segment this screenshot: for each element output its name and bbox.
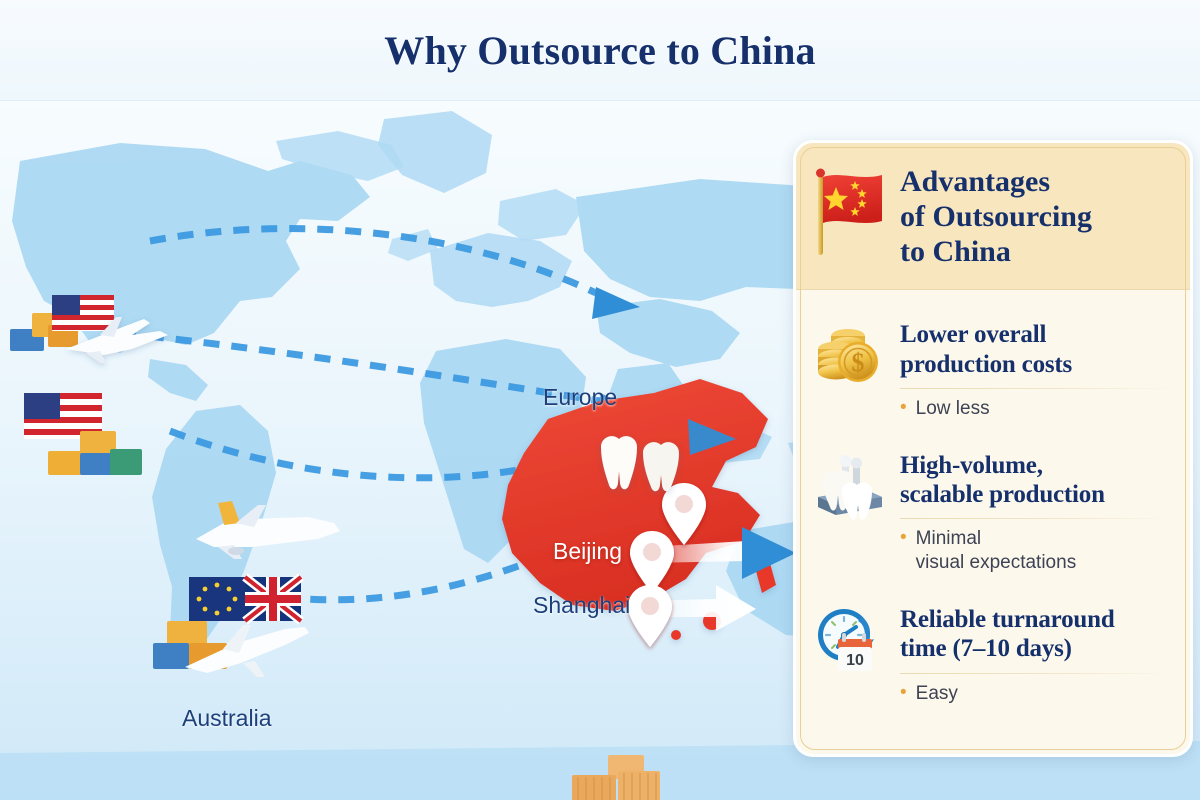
shipping-crates-cluster [566, 751, 706, 800]
advantages-panel: Advantages of Outsourcing to China [793, 140, 1193, 757]
advantage-sub-line-1: Minimal [916, 528, 981, 549]
advantage-item-turnaround-time: 10 Reliable turnaround time (7–10 days) … [812, 589, 1172, 719]
airplane-mid-cluster [188, 493, 353, 563]
advantage-headline-line-2: time (7–10 days) [900, 634, 1172, 663]
gold-coins-dollar-icon: $ [812, 316, 886, 390]
dental-teeth-map-cluster [595, 431, 690, 501]
advantage-headline: Lower overall production costs [900, 320, 1172, 379]
panel-header: Advantages of Outsourcing to China [796, 143, 1190, 290]
map-label-europe: Europe [543, 384, 617, 411]
map-label-shanghai: Shanghai [533, 592, 630, 619]
advantage-list: $ Lower overall production costs • Low l… [796, 290, 1190, 729]
advantage-headline: High-volume, scalable production [900, 451, 1172, 510]
svg-text:$: $ [852, 348, 865, 377]
advantage-divider [900, 518, 1172, 519]
map-label-beijing: Beijing [553, 538, 622, 565]
tooth-icon [601, 436, 679, 491]
advantage-headline-line-1: Lower overall [900, 320, 1172, 349]
advantage-item-scalable-production: High-volume, scalable production • Minim… [812, 435, 1172, 589]
title-band: Why Outsource to China [0, 0, 1200, 101]
advantage-headline-line-2: scalable production [900, 480, 1172, 509]
map-label-australia: Australia [182, 705, 271, 732]
us-flag-cargo-south-cluster [18, 391, 153, 481]
page-title: Why Outsource to China [384, 27, 816, 74]
advantage-divider [900, 388, 1172, 389]
uk-flag-icon [245, 577, 301, 621]
advantage-headline-line-1: Reliable turnaround [900, 605, 1172, 634]
panel-title-line-2: of Outsourcing [900, 200, 1092, 235]
advantage-body: Reliable turnaround time (7–10 days) • E… [900, 601, 1172, 705]
advantage-item-lower-costs: $ Lower overall production costs • Low l… [812, 304, 1172, 434]
clock-calendar-icon: 10 [812, 601, 886, 675]
advantage-headline-line-1: High-volume, [900, 451, 1172, 480]
usa-flag-icon [52, 295, 114, 331]
advantage-subtext: • Easy [900, 682, 1172, 706]
advantage-body: Lower overall production costs • Low les… [900, 316, 1172, 420]
advantage-sub-block: Minimal visual expectations [916, 527, 1077, 575]
advantage-sub-line-1: Easy [916, 682, 958, 706]
eu-uk-flag-cargo-plane-cluster [145, 571, 330, 686]
eu-flag-icon [189, 577, 245, 621]
advantage-sub-line-2: visual expectations [916, 552, 1077, 573]
bullet-icon: • [900, 397, 907, 421]
calendar-day: 10 [846, 652, 864, 669]
dollar-coin: $ [838, 342, 878, 382]
airplane-icon [196, 501, 340, 559]
advantage-headline: Reliable turnaround time (7–10 days) [900, 605, 1172, 664]
shipping-container-icon [572, 755, 660, 800]
advantage-body: High-volume, scalable production • Minim… [900, 447, 1172, 575]
advantage-subtext: • Low less [900, 397, 1172, 421]
panel-title: Advantages of Outsourcing to China [900, 165, 1092, 269]
dental-crowns-block-icon [812, 447, 886, 521]
infographic-canvas: Why Outsource to China [0, 0, 1200, 800]
bullet-icon: • [900, 527, 907, 575]
panel-title-line-1: Advantages [900, 165, 1092, 200]
panel-title-line-3: to China [900, 235, 1092, 270]
advantage-divider [900, 673, 1172, 674]
bullet-icon: • [900, 682, 907, 706]
us-flag-cargo-plane-north-cluster [8, 291, 178, 371]
advantage-subtext: • Minimal visual expectations [900, 527, 1172, 575]
china-flag-icon [812, 165, 886, 257]
advantage-sub-line-1: Low less [916, 397, 990, 421]
advantage-headline-line-2: production costs [900, 350, 1172, 379]
